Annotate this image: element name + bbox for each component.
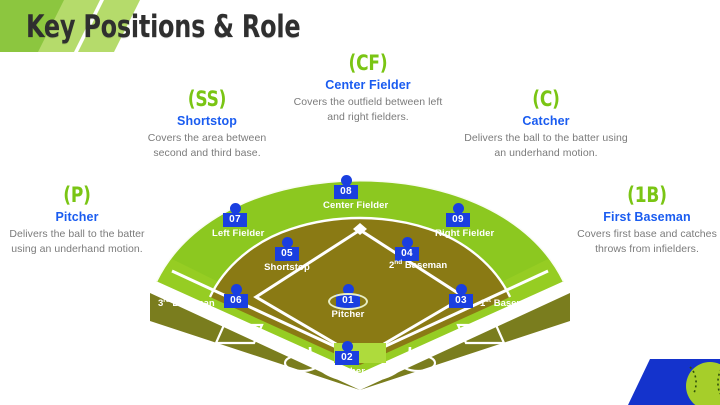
pin-number: 06 [224,294,248,308]
field-marker-shortstop[interactable]: 05 Shortstop [264,237,310,273]
callout-description: Covers the outfield between left and rig… [293,95,443,125]
callout-abbr: (C) [470,88,621,110]
pin-number: 08 [334,185,358,199]
pin-number: 09 [446,213,470,227]
pin-number: 05 [275,247,299,261]
pin-number: 02 [335,351,359,365]
field-marker-first-baseman[interactable]: 03 [438,284,484,308]
callout-abbr: (P) [13,184,141,206]
pin-label: Left Fielder [212,228,258,239]
callout-center-fielder: (CF) Center Fielder Covers the outfield … [293,52,443,125]
pin-label: Right Fielder [435,228,481,239]
pin-label: Catcher [324,366,370,377]
slide-canvas: Key Positions & Role (SS) Shortstop Cove… [0,0,720,405]
field-marker-catcher[interactable]: 02 Catcher [324,341,370,377]
callout-abbr: (SS) [140,88,275,110]
field-label-second-baseman: 2nd Baseman [389,259,447,271]
field-marker-center-fielder[interactable]: 08 Center Fielder [323,175,369,211]
callout-abbr: (CF) [301,52,436,74]
callout-role: Catcher [462,114,630,128]
callout-first-baseman: (1B) First Baseman Covers first base and… [576,184,718,257]
pin-number: 07 [223,213,247,227]
field-marker-right-fielder[interactable]: 09 Right Fielder [435,203,481,239]
pin-number: 03 [449,294,473,308]
pin-label: Center Fielder [323,200,369,211]
baseball-field-diagram: 08 Center Fielder 07 Left Fielder 09 Rig… [150,175,570,390]
pitcher-mound-ring [328,293,368,310]
callout-shortstop: (SS) Shortstop Covers the area between s… [132,88,282,161]
field-marker-third-baseman[interactable]: 06 [213,284,259,308]
callout-abbr: (1B) [583,184,711,206]
label-rest: Baseman [491,298,536,309]
footer-decoration [628,353,720,405]
callout-role: Center Fielder [293,78,443,92]
field-label-first-baseman: 1st Baseman [480,297,536,309]
callout-description: Covers the area between second and third… [132,131,282,161]
callout-pitcher: (P) Pitcher Delivers the ball to the bat… [6,184,148,257]
callout-description: Delivers the ball to the batter using an… [6,227,148,257]
callout-description: Covers first base and catches throws fro… [576,227,718,257]
field-marker-second-baseman[interactable]: 04 [384,237,430,261]
callout-role: Shortstop [132,114,282,128]
page-title: Key Positions & Role [26,9,300,45]
label-rest: Baseman [402,260,447,271]
field-label-third-baseman: 3rd Baseman [158,297,215,309]
pin-label: Shortstop [264,262,310,273]
callout-role: First Baseman [576,210,718,224]
field-marker-pitcher[interactable]: 01 Pitcher [325,284,371,320]
pin-label: Pitcher [325,309,371,320]
callout-description: Delivers the ball to the batter using an… [462,131,630,161]
label-rest: Baseman [170,298,215,309]
callout-role: Pitcher [6,210,148,224]
callout-catcher: (C) Catcher Delivers the ball to the bat… [462,88,630,161]
field-marker-left-fielder[interactable]: 07 Left Fielder [212,203,258,239]
